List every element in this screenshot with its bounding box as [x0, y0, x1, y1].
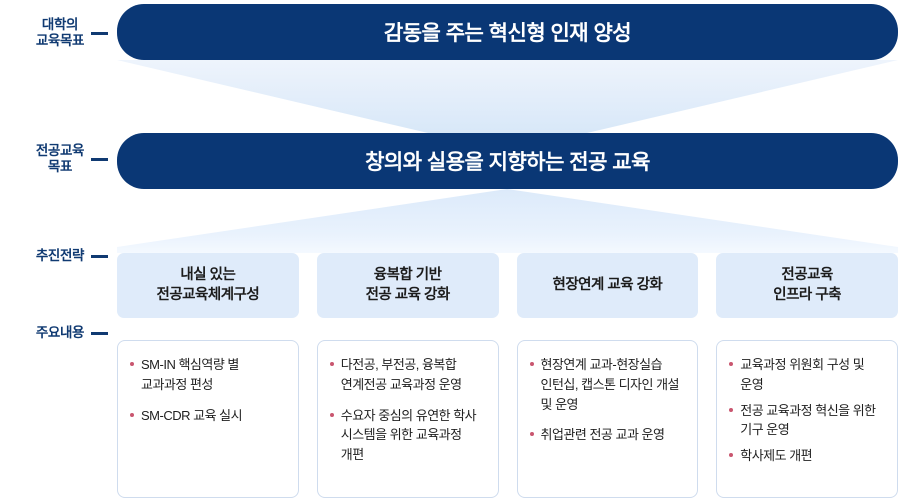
bullet-list-1: SM-IN 핵심역량 별 교과과정 편성 SM-CDR 교육 실시: [130, 355, 288, 425]
rail-label-main-content: 주요내용: [0, 322, 108, 344]
list-item: 수요자 중심의 유연한 학사 시스템을 위한 교육과정 개편: [330, 406, 488, 465]
strategy-columns: 내실 있는 전공교육체계구성 SM-IN 핵심역량 별 교과과정 편성 SM-C…: [117, 253, 898, 498]
bullet-list-3: 현장연계 교과-현장실습 인턴십, 캡스톤 디자인 개설 및 운영 취업관련 전…: [530, 355, 688, 445]
column-strategy-4: 전공교육 인프라 구축 교육과정 위원회 구성 및 운영 전공 교육과정 혁신을…: [716, 253, 898, 498]
connector-funnel-spread: [117, 189, 898, 253]
list-item: 다전공, 부전공, 융복합 연계전공 교육과정 운영: [330, 355, 488, 395]
list-item: 교육과정 위원회 구성 및 운영: [729, 355, 887, 395]
strategy-box-4-label: 전공교육 인프라 구축: [773, 266, 841, 305]
rail-label-strategy: 추진전략: [0, 245, 108, 267]
connector-funnel-down: [117, 60, 898, 133]
strategy-box-1-label: 내실 있는 전공교육체계구성: [157, 266, 260, 305]
content-box-3: 현장연계 교과-현장실습 인턴십, 캡스톤 디자인 개설 및 운영 취업관련 전…: [517, 340, 699, 498]
list-item: 전공 교육과정 혁신을 위한 기구 운영: [729, 401, 887, 441]
banner-major-education-goal: 창의와 실용을 지향하는 전공 교육: [117, 133, 898, 189]
education-goal-diagram: 대학의 교육목표 전공교육 목표 추진전략 주요내용 감동을 주는 혁신형 인재…: [0, 0, 915, 500]
rail-dash-icon: [91, 255, 108, 258]
banner-university-goal: 감동을 주는 혁신형 인재 양성: [117, 4, 898, 60]
strategy-box-3[interactable]: 현장연계 교육 강화: [517, 253, 699, 318]
rail-dash-icon: [91, 332, 108, 335]
rail-label-strategy-text: 추진전략: [36, 248, 84, 264]
content-box-1: SM-IN 핵심역량 별 교과과정 편성 SM-CDR 교육 실시: [117, 340, 299, 498]
rail-label-university-goal: 대학의 교육목표: [0, 10, 108, 56]
content-box-4: 교육과정 위원회 구성 및 운영 전공 교육과정 혁신을 위한 기구 운영 학사…: [716, 340, 898, 498]
list-item: SM-CDR 교육 실시: [130, 406, 288, 426]
list-item: 취업관련 전공 교과 운영: [530, 425, 688, 445]
strategy-box-3-label: 현장연계 교육 강화: [552, 276, 662, 296]
strategy-box-4[interactable]: 전공교육 인프라 구축: [716, 253, 898, 318]
content-box-2: 다전공, 부전공, 융복합 연계전공 교육과정 운영 수요자 중심의 유연한 학…: [317, 340, 499, 498]
rail-label-main-content-text: 주요내용: [36, 325, 84, 341]
list-item: 현장연계 교과-현장실습 인턴십, 캡스톤 디자인 개설 및 운영: [530, 355, 688, 414]
strategy-box-1[interactable]: 내실 있는 전공교육체계구성: [117, 253, 299, 318]
strategy-box-2[interactable]: 융복합 기반 전공 교육 강화: [317, 253, 499, 318]
banner-university-goal-text: 감동을 주는 혁신형 인재 양성: [384, 17, 631, 47]
rail-label-major-goal-text: 전공교육 목표: [36, 143, 84, 175]
bullet-list-4: 교육과정 위원회 구성 및 운영 전공 교육과정 혁신을 위한 기구 운영 학사…: [729, 355, 887, 466]
column-strategy-2: 융복합 기반 전공 교육 강화 다전공, 부전공, 융복합 연계전공 교육과정 …: [317, 253, 499, 498]
column-strategy-3: 현장연계 교육 강화 현장연계 교과-현장실습 인턴십, 캡스톤 디자인 개설 …: [517, 253, 699, 498]
list-item: SM-IN 핵심역량 별 교과과정 편성: [130, 355, 288, 395]
strategy-box-2-label: 융복합 기반 전공 교육 강화: [366, 266, 450, 305]
list-item: 학사제도 개편: [729, 446, 887, 466]
bullet-list-2: 다전공, 부전공, 융복합 연계전공 교육과정 운영 수요자 중심의 유연한 학…: [330, 355, 488, 465]
banner-major-education-goal-text: 창의와 실용을 지향하는 전공 교육: [365, 146, 650, 176]
rail-dash-icon: [91, 32, 108, 35]
rail-dash-icon: [91, 158, 108, 161]
column-strategy-1: 내실 있는 전공교육체계구성 SM-IN 핵심역량 별 교과과정 편성 SM-C…: [117, 253, 299, 498]
rail-label-major-goal: 전공교육 목표: [0, 136, 108, 182]
rail-label-university-goal-text: 대학의 교육목표: [36, 17, 84, 49]
